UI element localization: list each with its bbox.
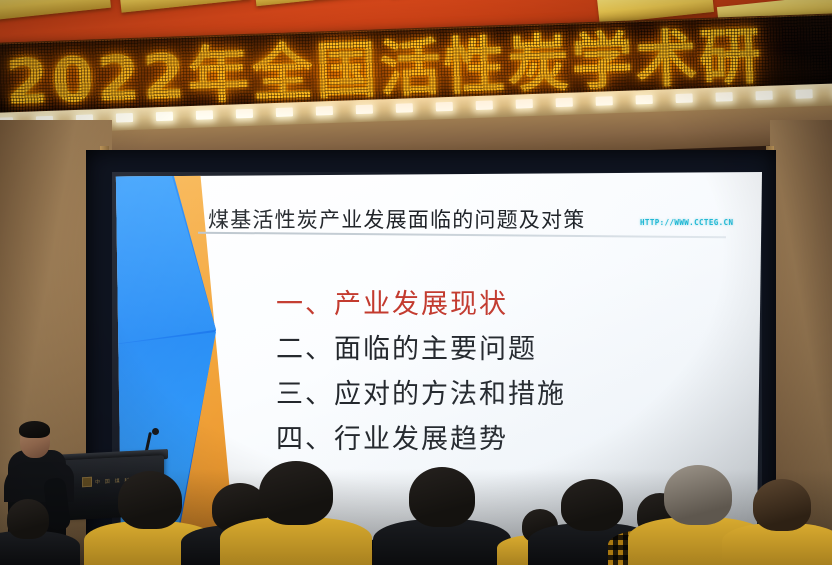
valance-lamp	[276, 107, 293, 117]
valance-lamp	[795, 89, 812, 99]
valance-lamp	[675, 93, 692, 103]
microphone-head	[152, 428, 159, 435]
valance-lamp	[755, 91, 772, 101]
podium-logo-text: 中 国 煤 科	[95, 476, 131, 485]
valance-lamp	[636, 95, 653, 105]
valance-lamp	[715, 92, 732, 102]
podium-logo-mark	[82, 477, 92, 488]
agenda-item-4: 四、行业发展趋势	[276, 417, 716, 462]
slide-title: 煤基活性炭产业发展面临的问题及对策	[208, 204, 585, 234]
wall-right	[770, 120, 832, 565]
valance-lamp	[516, 99, 533, 109]
ceiling-light-panel	[254, 0, 376, 6]
slide-agenda-list: 一、产业发展现状二、面临的主要问题三、应对的方法和措施四、行业发展趋势	[276, 282, 716, 462]
ceiling-light-panel	[0, 0, 111, 20]
valance-lamp	[436, 102, 453, 112]
valance-lamp	[556, 98, 573, 108]
agenda-item-2: 二、面临的主要问题	[276, 327, 716, 372]
valance-lamp	[196, 110, 213, 120]
speaker-hair	[19, 421, 50, 438]
conference-photo: 2022年全国活性炭学术研 煤基活性炭产业发展面临的问题及对策 HTTP://W…	[0, 0, 832, 565]
ceiling-light-panel	[119, 0, 251, 13]
valance-lamp	[156, 112, 173, 122]
valance-lamp	[316, 106, 333, 116]
valance-lamp	[596, 96, 613, 106]
slide-url: HTTP://WWW.CCTEG.CN	[640, 218, 733, 227]
valance-lamp	[476, 100, 493, 110]
valance-lamp	[396, 103, 413, 113]
valance-lamp	[236, 109, 253, 119]
presentation-slide: 煤基活性炭产业发展面临的问题及对策 HTTP://WWW.CCTEG.CN 一、…	[112, 172, 762, 542]
agenda-item-3: 三、应对的方法和措施	[276, 372, 716, 417]
valance-lamp	[356, 105, 373, 115]
valance-lamp	[116, 113, 133, 123]
agenda-item-1: 一、产业发展现状	[276, 282, 716, 327]
